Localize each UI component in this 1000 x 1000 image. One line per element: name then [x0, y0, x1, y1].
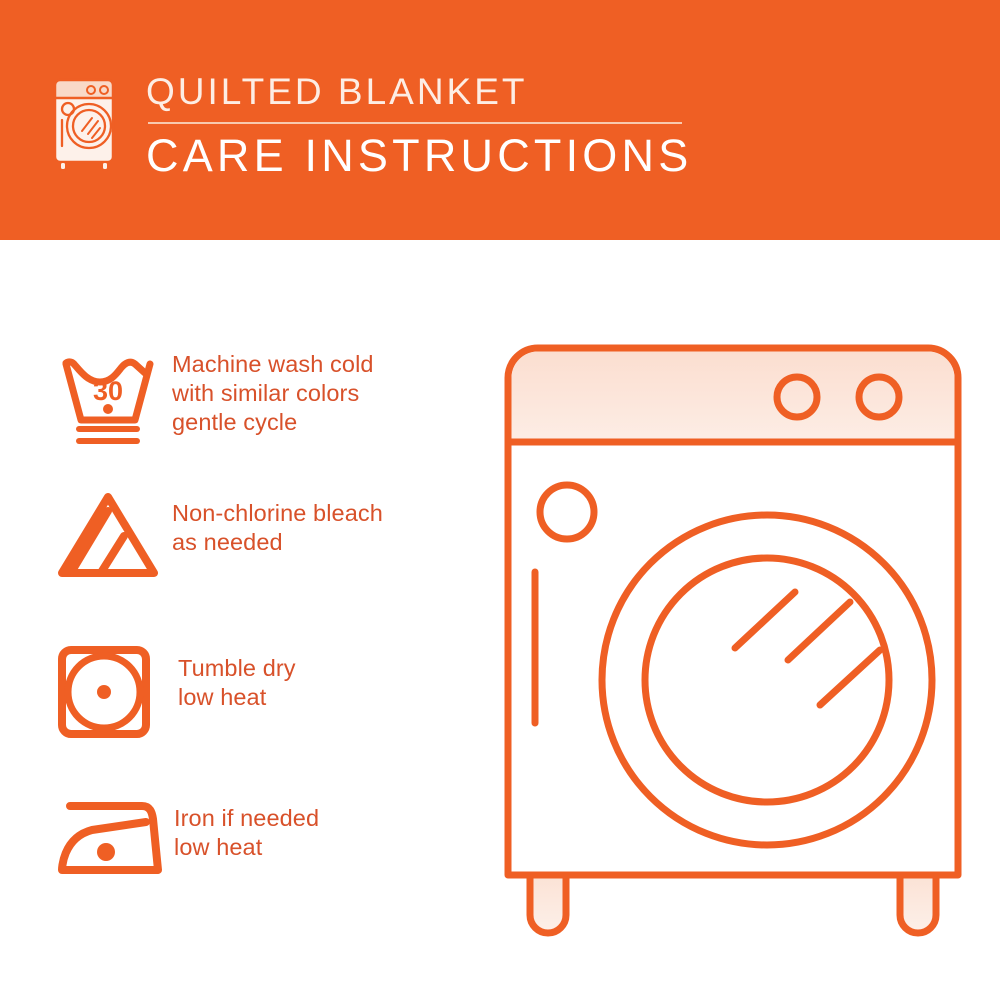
care-row-bleach: Non-chlorine bleach as needed — [48, 485, 478, 583]
care-label-line: Iron if needed — [174, 804, 319, 833]
care-label-line: low heat — [174, 833, 319, 862]
care-label-line: Machine wash cold — [172, 350, 374, 379]
care-label-line: Non-chlorine bleach — [172, 499, 383, 528]
bleach-triangle-icon — [48, 485, 172, 583]
care-label-line: as needed — [172, 528, 383, 557]
care-label-machine-wash: Machine wash cold with similar colors ge… — [172, 344, 374, 437]
care-label-tumble-dry: Tumble dry low heat — [178, 640, 296, 712]
care-instructions-infographic: QUILTED BLANKET CARE INSTRUCTIONS 30 Mac… — [0, 0, 1000, 1000]
wash-tub-30-icon: 30 — [48, 344, 172, 450]
title-divider — [148, 122, 682, 124]
iron-icon — [48, 790, 174, 882]
washer-leg-left — [530, 875, 566, 933]
page-title-secondary: CARE INSTRUCTIONS — [146, 130, 706, 182]
care-label-line: low heat — [178, 683, 296, 712]
care-label-iron: Iron if needed low heat — [174, 790, 319, 862]
care-row-tumble-dry: Tumble dry low heat — [48, 640, 478, 742]
front-load-washing-machine-illustration — [490, 330, 980, 940]
care-label-line: gentle cycle — [172, 408, 374, 437]
care-instruction-list: 30 Machine wash cold with similar colors… — [0, 240, 500, 1000]
washer-leg-right — [900, 875, 936, 933]
care-row-machine-wash: 30 Machine wash cold with similar colors… — [48, 344, 478, 450]
header-title-block: QUILTED BLANKET CARE INSTRUCTIONS — [146, 70, 706, 182]
care-label-line: Tumble dry — [178, 654, 296, 683]
wash-temperature-value: 30 — [93, 376, 123, 406]
washer-control-panel — [512, 352, 955, 443]
washing-machine-icon — [46, 68, 120, 174]
header-banner: QUILTED BLANKET CARE INSTRUCTIONS — [0, 0, 1000, 240]
tumble-dry-icon — [48, 640, 178, 742]
page-title-primary: QUILTED BLANKET — [146, 70, 706, 114]
care-row-iron: Iron if needed low heat — [48, 790, 478, 882]
care-label-bleach: Non-chlorine bleach as needed — [172, 485, 383, 557]
care-label-line: with similar colors — [172, 379, 374, 408]
